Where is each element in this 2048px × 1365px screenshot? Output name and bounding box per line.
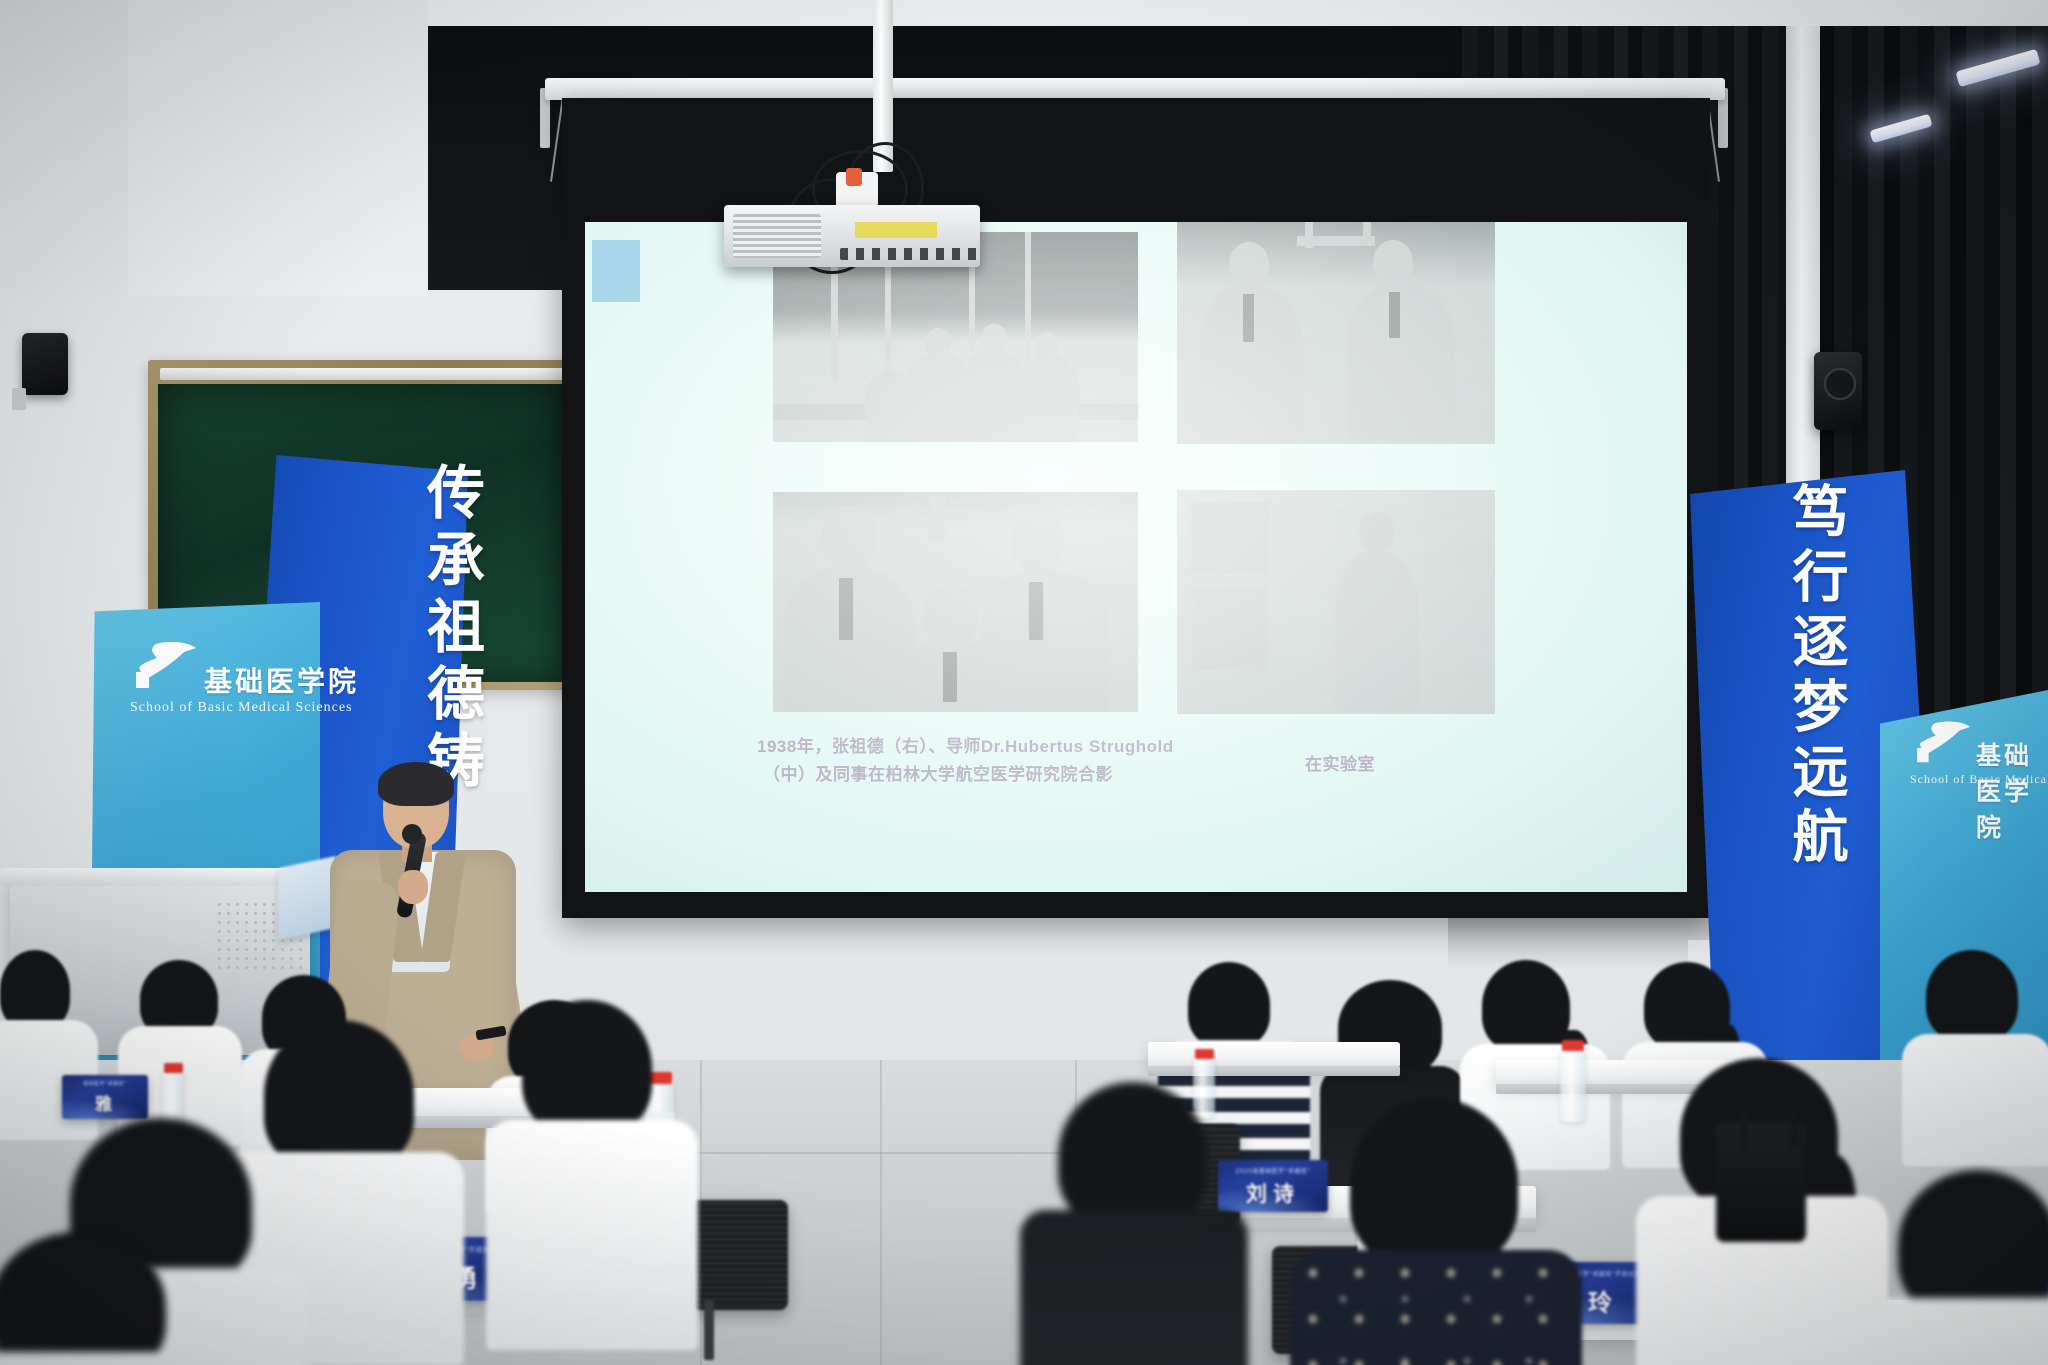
microphone-head-icon (402, 824, 422, 844)
projector-vent (733, 214, 821, 258)
chalkboard-rail (160, 368, 564, 380)
school-logo-icon (1908, 718, 1974, 764)
chair-leg (704, 1300, 714, 1360)
logo-banner-right-en: School of Basic Medical Sciences (1910, 772, 2048, 787)
hair (522, 1000, 652, 1136)
torso (0, 1352, 220, 1365)
nameplate: 2025级基础医学“卓越班” 刘诗 (1218, 1160, 1328, 1212)
bottle-cap (1562, 1040, 1584, 1051)
bottle-cap (1195, 1049, 1214, 1059)
projector-adjust-knob[interactable] (846, 168, 862, 186)
slide-accent-block (592, 240, 640, 302)
slide-caption-left-line2: （中）及同事在柏林大学航空医学研究院合影 (763, 760, 1113, 785)
torso (1902, 1034, 2048, 1166)
slide-photo-top-right (1177, 222, 1495, 444)
nameplate-subtitle: 2025级基础医学“卓越班” (1218, 1166, 1328, 1175)
torso (486, 1120, 698, 1350)
slide-caption-left-line1: 1938年，张祖德（右）、导师Dr.Hubertus Strughold (757, 732, 1174, 757)
torso-patterned (1290, 1250, 1582, 1365)
nameplate-subtitle: 基础医学“卓越班” (62, 1080, 148, 1087)
logo-banner-left-cn: 基础医学院 (204, 660, 359, 700)
water-bottle[interactable] (1560, 1048, 1586, 1122)
hair (1058, 1082, 1208, 1230)
screen-housing (545, 78, 1725, 100)
presenter-hair (378, 762, 454, 806)
nameplate-name: 雅 (62, 1090, 148, 1115)
nameplate-name: 刘诗 (1218, 1178, 1328, 1208)
slide-caption-right: 在实验室 (1305, 750, 1375, 775)
projection-screen[interactable]: 1938年，张祖德（右）、导师Dr.Hubertus Strughold （中）… (585, 222, 1687, 892)
water-bottle[interactable] (1193, 1056, 1215, 1118)
presenter-left-hand (398, 870, 428, 904)
nameplate: 基础医学“卓越班” 雅 (62, 1075, 148, 1119)
floor-tile-line (880, 1060, 882, 1365)
ceiling-left-panel (0, 0, 140, 292)
torso (1020, 1210, 1248, 1365)
hair (0, 950, 70, 1030)
school-logo-icon (126, 638, 200, 690)
slide-photo-bottom-right (1177, 490, 1495, 714)
lecture-hall-scene: 1938年，张祖德（右）、导师Dr.Hubertus Strughold （中）… (0, 0, 2048, 1365)
logo-banner-right-cn: 基础医学院 (1976, 736, 2048, 844)
desk-edge (1148, 1066, 1400, 1076)
student-chair[interactable] (690, 1200, 788, 1310)
wall-speaker-left (22, 333, 68, 395)
projector-ports[interactable] (840, 248, 980, 260)
projector-label (855, 222, 937, 238)
banner-right-text: 笃行逐梦远航 (1775, 482, 1856, 1062)
av-console-top (0, 868, 320, 886)
hair (264, 1020, 414, 1170)
upper-wall-panel (128, 0, 428, 296)
hair (1926, 950, 2018, 1042)
wall-speaker-right-cone (1824, 368, 1856, 400)
torso (1868, 1298, 2048, 1365)
bottle-cap (164, 1063, 183, 1073)
student-desk (1148, 1042, 1400, 1068)
handbag-strap (1740, 1096, 1798, 1149)
logo-banner-left-en: School of Basic Medical Sciences (130, 700, 353, 716)
console-monitor[interactable] (278, 856, 336, 940)
hair (1350, 1098, 1518, 1268)
wall-speaker-left-bracket (12, 388, 26, 410)
slide-photo-bottom-left (773, 492, 1138, 712)
